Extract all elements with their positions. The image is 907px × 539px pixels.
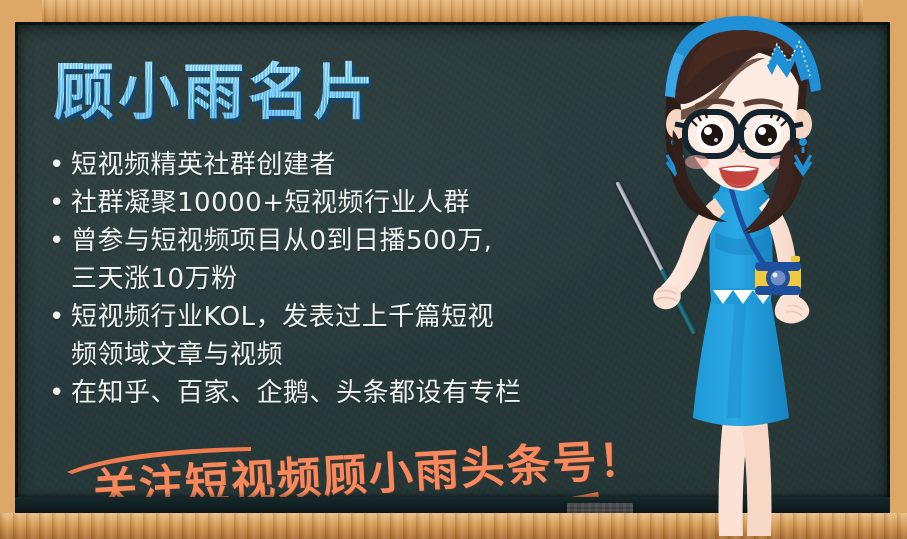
bullet-dot-icon: • — [49, 222, 71, 260]
list-item: • 短视频行业KOL，发表过上千篇短视 — [49, 298, 689, 336]
list-item-label: 社群凝聚10000+短视频行业人群 — [71, 184, 470, 222]
bullet-dot-icon: • — [49, 184, 71, 222]
bullet-list: • 短视频精英社群创建者 • 社群凝聚10000+短视频行业人群 • 曾参与短视… — [49, 146, 689, 412]
list-item-label: 曾参与短视频项目从0到日播500万, — [71, 222, 492, 260]
bullet-dot-icon: • — [49, 374, 71, 412]
list-item: • 短视频精英社群创建者 — [49, 146, 689, 184]
list-item-label: 在知乎、百家、企鹅、头条都设有专栏 — [71, 374, 522, 412]
list-item-continuation: 三天涨10万粉 — [49, 260, 689, 298]
legs — [719, 418, 772, 536]
bullet-dot-icon: • — [49, 146, 71, 184]
list-item-label: 短视频精英社群创建者 — [71, 146, 336, 184]
cartoon-teacher-girl — [615, 0, 907, 539]
list-item: • 曾参与短视频项目从0到日播500万, — [49, 222, 689, 260]
list-item-continuation: 频领域文章与视频 — [49, 336, 689, 374]
chalkboard-poster: 顾小雨名片 • 短视频精英社群创建者 • 社群凝聚10000+短视频行业人群 •… — [0, 0, 907, 539]
list-item: • 社群凝聚10000+短视频行业人群 — [49, 184, 689, 222]
page-title: 顾小雨名片 — [53, 42, 378, 131]
bullet-dot-icon: • — [49, 298, 71, 336]
list-item-label: 频领域文章与视频 — [71, 336, 283, 374]
list-item: • 在知乎、百家、企鹅、头条都设有专栏 — [49, 374, 689, 412]
list-item-label: 三天涨10万粉 — [71, 260, 238, 298]
list-item-label: 短视频行业KOL，发表过上千篇短视 — [71, 298, 494, 336]
